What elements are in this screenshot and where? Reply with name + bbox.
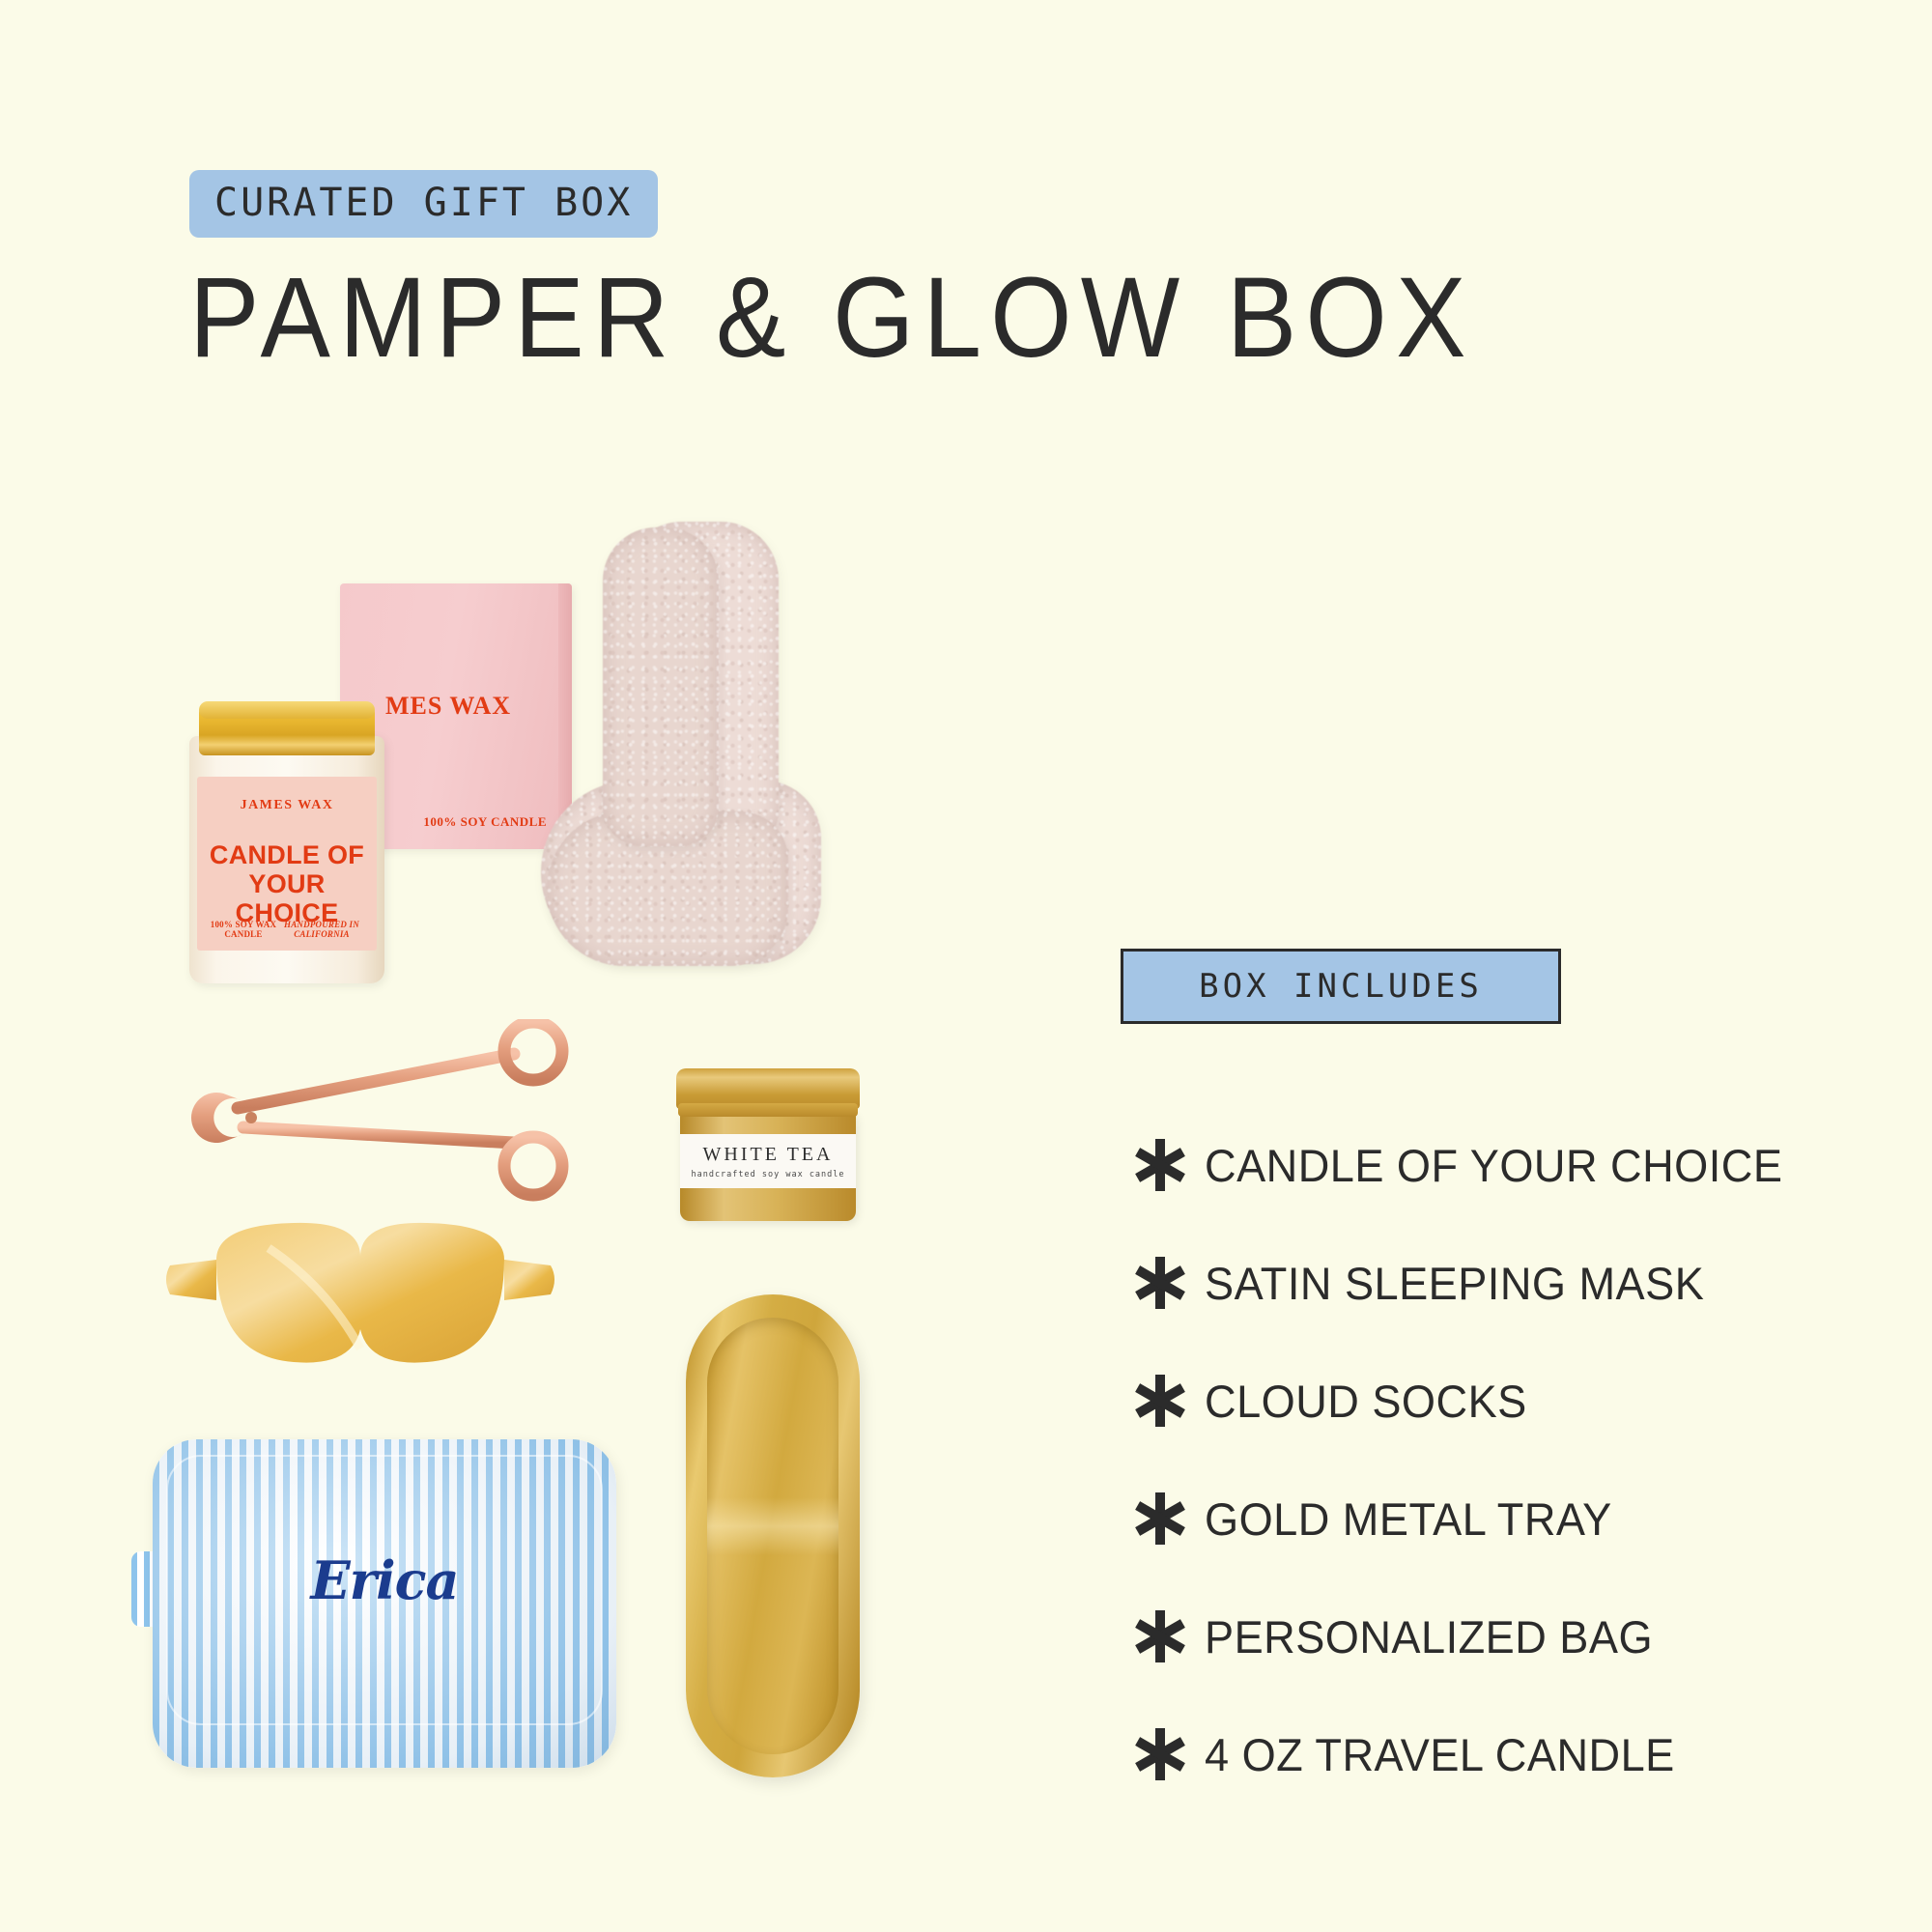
- bag-embroidered-name: Erica: [153, 1549, 616, 1611]
- list-item: CANDLE OF YOUR CHOICE: [1116, 1106, 1889, 1224]
- tin-lip: [678, 1103, 858, 1117]
- list-item-label: CLOUD SOCKS: [1205, 1375, 1527, 1428]
- candle-jar-footer: 100% SOY WAX CANDLE HANDPOURED IN CALIFO…: [197, 920, 377, 939]
- product-personalized-bag-image: Erica: [153, 1439, 616, 1768]
- asterisk-icon: [1116, 1491, 1205, 1547]
- list-item-label: 4 OZ TRAVEL CANDLE: [1205, 1728, 1675, 1781]
- list-item: SATIN SLEEPING MASK: [1116, 1224, 1889, 1342]
- curated-gift-box-badge: CURATED GIFT BOX: [189, 170, 658, 238]
- tin-label: WHITE TEA handcrafted soy wax candle: [680, 1134, 856, 1188]
- product-gold-tray-image: [686, 1294, 860, 1777]
- poster-canvas: CURATED GIFT BOX PAMPER & GLOW BOX MES W…: [0, 0, 1932, 1932]
- sock-leg-second: [603, 527, 719, 846]
- sleep-mask-icon: [153, 1215, 568, 1399]
- list-item: PERSONALIZED BAG: [1116, 1577, 1889, 1695]
- candle-jar-name: CANDLE OF YOUR CHOICE: [197, 840, 377, 928]
- wick-trimmer-icon: [155, 1019, 570, 1227]
- product-sleep-mask-image: [153, 1215, 568, 1399]
- list-item: CLOUD SOCKS: [1116, 1342, 1889, 1460]
- list-item-label: GOLD METAL TRAY: [1205, 1492, 1612, 1546]
- list-item-label: PERSONALIZED BAG: [1205, 1610, 1653, 1663]
- box-includes-header: BOX INCLUDES: [1121, 949, 1561, 1024]
- candle-jar-footer-right: HANDPOURED IN CALIFORNIA: [278, 920, 365, 939]
- asterisk-icon: [1116, 1255, 1205, 1311]
- asterisk-icon: [1116, 1608, 1205, 1664]
- candle-jar-brand: JAMES WAX: [197, 798, 377, 813]
- candle-jar-footer-left: 100% SOY WAX CANDLE: [209, 920, 278, 939]
- page-title: PAMPER & GLOW BOX: [189, 259, 1475, 379]
- candle-jar-name-line1: CANDLE OF: [197, 840, 377, 869]
- product-travel-tin-image: WHITE TEA handcrafted soy wax candle: [676, 1068, 860, 1223]
- box-includes-list: CANDLE OF YOUR CHOICE SATIN SLEEPING MAS…: [1116, 1106, 1889, 1813]
- product-candle-jar-image: JAMES WAX CANDLE OF YOUR CHOICE 100% SOY…: [189, 694, 384, 983]
- list-item-label: CANDLE OF YOUR CHOICE: [1205, 1139, 1782, 1192]
- list-item-label: SATIN SLEEPING MASK: [1205, 1257, 1704, 1310]
- asterisk-icon: [1116, 1373, 1205, 1429]
- list-item: 4 OZ TRAVEL CANDLE: [1116, 1695, 1889, 1813]
- tin-scent-name: WHITE TEA: [703, 1144, 834, 1166]
- tin-subtitle: handcrafted soy wax candle: [691, 1170, 844, 1179]
- candle-jar-lid-top: [199, 701, 375, 719]
- candle-jar-label: JAMES WAX CANDLE OF YOUR CHOICE 100% SOY…: [197, 777, 377, 951]
- tray-sheen: [707, 1497, 838, 1555]
- product-wick-trimmer-image: [155, 1019, 570, 1227]
- asterisk-icon: [1116, 1726, 1205, 1782]
- list-item: GOLD METAL TRAY: [1116, 1460, 1889, 1577]
- product-cloud-socks-image: [541, 522, 831, 1063]
- asterisk-icon: [1116, 1137, 1205, 1193]
- candle-box-subtitle: 100% SOY CANDLE: [423, 814, 547, 830]
